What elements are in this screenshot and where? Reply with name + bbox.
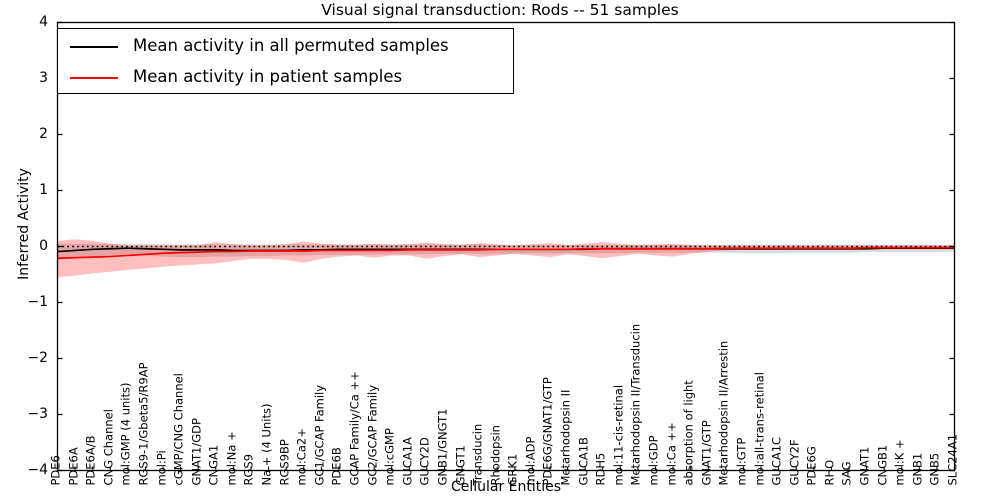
x-tick-label: GNB1/GNGT1 (437, 408, 449, 485)
legend-entry-permuted: Mean activity in all permuted samples (58, 31, 513, 61)
x-tick-label: GNAT1/GTP (701, 420, 713, 485)
x-tick-label: GRK1 (508, 453, 520, 485)
x-tick-label: GNB5 (930, 452, 942, 485)
x-tick-label: RHO (824, 459, 836, 485)
x-tick-label: PDE6A/B (86, 435, 98, 485)
x-tick-label: mol:GTP (736, 437, 748, 485)
x-tick-label: mol:ADP (525, 436, 537, 485)
x-tick-label: RGS9 (244, 453, 256, 485)
x-tick-label: GUCA1A (402, 437, 414, 485)
x-tick-label: CNGB1 (877, 444, 889, 485)
x-tick-label: PDE6B (332, 447, 344, 485)
legend-entry-patient: Mean activity in patient samples (58, 62, 513, 92)
x-tick-label: GNB1 (912, 452, 924, 485)
x-tick-label: GC2/GCAP Family (367, 384, 379, 485)
figure-canvas: Visual signal transduction: Rods -- 51 s… (0, 0, 1000, 500)
x-tick-label: absorption of light (684, 380, 696, 485)
x-tick-label: cGMP/CNG Channel (174, 373, 186, 485)
x-tick-label: GUCA1C (772, 436, 784, 485)
y-tick-label: 0 (6, 238, 48, 254)
x-tick-label: mol:all-trans-retinal (754, 372, 766, 485)
x-tick-label: Metarhodopsin II/Arrestin (719, 340, 731, 485)
x-tick-label: GUCY2D (420, 437, 432, 485)
x-tick-label: Na + (4 Units) (262, 403, 274, 485)
x-tick-label: mol:Pi (156, 450, 168, 485)
legend-swatch-patient (70, 77, 118, 79)
x-tick-label: SLC24A1 (948, 433, 960, 485)
x-tick-label: Rhodopsin (490, 425, 502, 485)
x-tick-label: mol:Na + (226, 431, 238, 485)
x-tick-label: SAG (842, 461, 854, 485)
x-tick-label: mol:K + (895, 439, 907, 485)
x-tick-label: CNG Channel (103, 409, 115, 485)
y-tick-label: 2 (6, 126, 48, 142)
x-tick-label: mol:GDP (649, 435, 661, 485)
y-tick-label: −2 (6, 350, 48, 366)
x-tick-label: mol:11-cis-retinal (613, 384, 625, 485)
x-tick-label: RGS9BP (279, 439, 291, 485)
legend-label-permuted: Mean activity in all permuted samples (133, 36, 449, 55)
x-tick-label: GNGT1 (455, 445, 467, 485)
x-tick-label: mol:Ca ++ (666, 422, 678, 485)
x-tick-label: mol:Ca2+ (297, 428, 309, 485)
x-tick-label: Transducin (473, 423, 485, 485)
y-tick-label: −1 (6, 294, 48, 310)
x-tick-label: GNAT1/GDP (191, 418, 203, 485)
x-tick-label: Metarhodopsin II/Transducin (631, 323, 643, 485)
x-tick-label: PDE6 (51, 455, 63, 485)
x-tick-label: mol:GMP (4 units) (121, 382, 133, 485)
x-tick-label: RDH5 (596, 452, 608, 485)
y-tick-label: −3 (6, 406, 48, 422)
x-tick-label: GUCA1B (578, 437, 590, 485)
y-tick-label: 4 (6, 14, 48, 30)
x-tick-label: Metarhodopsin II (561, 389, 573, 485)
x-tick-label: GC1/GCAP Family (314, 384, 326, 485)
chart-legend[interactable]: Mean activity in all permuted samples Me… (57, 28, 514, 94)
x-tick-label: GUCY2F (789, 439, 801, 485)
y-tick-label: −4 (6, 462, 48, 478)
x-tick-label: GNAT1 (860, 446, 872, 485)
x-tick-label: PDE6G (807, 446, 819, 485)
x-tick-label: GCAP Family/Ca ++ (350, 371, 362, 485)
y-tick-label: 3 (6, 70, 48, 86)
y-tick-label: 1 (6, 182, 48, 198)
x-tick-label: CNGA1 (209, 444, 221, 485)
x-tick-label: RGS9-1/Gbeta5/R9AP (138, 362, 150, 485)
x-tick-label: PDE6G/GNAT1/GTP (543, 377, 555, 485)
legend-label-patient: Mean activity in patient samples (133, 67, 402, 86)
legend-swatch-permuted (70, 46, 118, 48)
x-tick-label: mol:cGMP (385, 428, 397, 485)
x-tick-label: PDE6A (68, 447, 80, 485)
